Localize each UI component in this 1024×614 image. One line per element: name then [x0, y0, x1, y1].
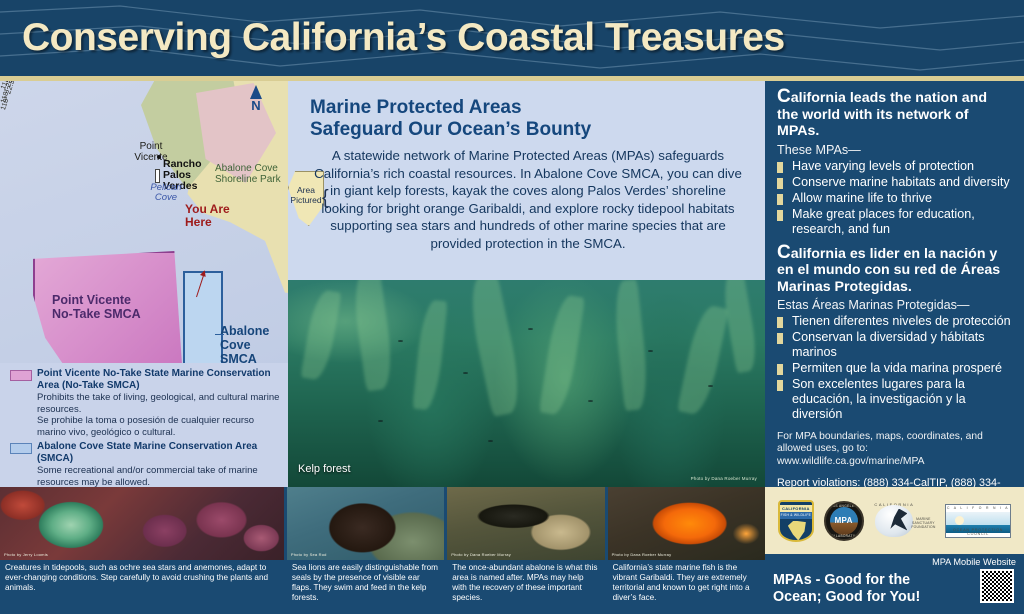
legend-title-no-take-smca: Point Vicente No-Take State Marine Conse… — [37, 368, 280, 391]
list-item: Have varying levels of protection — [777, 159, 1012, 174]
list-item: Son excelentes lugares para la educación… — [777, 377, 1012, 422]
kelp-forest-photo-credit: Photo by Dana Roeber Murray — [691, 476, 757, 481]
photo-credit: Photo by Dana Roeber Murray — [612, 552, 672, 557]
map-point-marker — [157, 155, 161, 159]
legend-swatch-magenta — [10, 370, 32, 381]
compass-rose-icon: N — [244, 85, 268, 113]
mpa-logo-top-text: LOS ANGELES — [826, 504, 862, 508]
photo-captions-bar: Creatures in tidepools, such as ochre se… — [0, 560, 765, 614]
center-content-panel: Marine Protected Areas Safeguard Our Oce… — [288, 81, 765, 487]
center-heading-line1: Marine Protected Areas — [310, 97, 591, 119]
map-label-pelican-cove: Pelican Cove — [147, 183, 185, 203]
tagline-text: MPAs - Good for the Ocean; Good for You! — [773, 572, 953, 606]
lighthouse-marker-icon — [155, 169, 160, 183]
qr-code-pattern — [982, 571, 1012, 601]
caption-sea-lion: Sea lions are easily distinguishable fro… — [287, 563, 444, 614]
opc-logo-top-text: C A L I F O R N I A — [946, 506, 1010, 510]
list-item: Tienen diferentes niveles de protección — [777, 314, 1012, 329]
caption-tidepool: Creatures in tidepools, such as ochre se… — [0, 563, 284, 614]
center-body-text: A statewide network of Marine Protected … — [308, 147, 748, 253]
opc-logo-bottom-text: OCEAN PROTECTION COUNCIL — [946, 528, 1010, 536]
center-text-area: Marine Protected Areas Safeguard Our Oce… — [288, 81, 765, 280]
tagline-bar: MPA Mobile Website MPAs - Good for the O… — [765, 554, 1024, 614]
legend-desc-no-take-smca-en: Prohibits the take of living, geological… — [10, 392, 280, 415]
dropcap-spanish: C — [777, 242, 791, 263]
legend-desc-abalone-cove-smca-en: Some recreational and/or commercial take… — [10, 465, 280, 488]
bullet-icon — [777, 333, 783, 344]
photo-strip: Photo by Jerry Loomis Photo by Sea Rod P… — [0, 487, 765, 560]
photo-sea-lion: Photo by Sea Rod — [287, 487, 444, 560]
bullet-text: Conserve marine habitats and diversity — [792, 175, 1010, 190]
bullet-text: Permiten que la vida marina prosperé — [792, 361, 1002, 376]
list-item: Conservan la diversidad y hábitats marin… — [777, 330, 1012, 360]
bullet-text: Tienen diferentes niveles de protección — [792, 314, 1011, 329]
ocean-protection-council-logo: C A L I F O R N I A OCEAN PROTECTION COU… — [945, 504, 1011, 538]
info-heading-spanish: California es lider en la nación y en el… — [777, 245, 1012, 296]
photo-garibaldi: Photo by Dana Roeber Murray — [608, 487, 765, 560]
bullet-icon — [777, 178, 783, 189]
qr-code[interactable] — [980, 569, 1014, 603]
compass-north-label: N — [244, 99, 268, 113]
list-item: Make great places for education, researc… — [777, 207, 1012, 237]
dropcap-english: C — [777, 86, 791, 107]
bottom-divider — [0, 609, 1024, 614]
bullet-icon — [777, 380, 783, 391]
map-label-you-are-here: You Are Here — [185, 203, 241, 229]
cdfw-logo-bottom-text: FISH & WILDLIFE — [780, 512, 812, 519]
photo-abalone: Photo by Dana Roeber Murray — [447, 487, 604, 560]
legend-title-abalone-cove-smca: Abalone Cove State Marine Conservation A… — [37, 441, 280, 464]
info-heading-english: California leads the nation and the worl… — [777, 89, 1012, 140]
info-bullet-list-english: Have varying levels of protection Conser… — [777, 159, 1012, 237]
bullet-icon — [777, 364, 783, 375]
info-subhead-english: These MPAs— — [777, 143, 1012, 158]
label-point-vicente-no-take-smca: Point Vicente No-Take SMCA — [52, 293, 182, 321]
map-label-abalone-cove-shoreline-park: Abalone Cove Shoreline Park — [215, 163, 288, 185]
legend-item-no-take-smca: Point Vicente No-Take State Marine Conse… — [10, 368, 280, 391]
cdfw-logo: CALIFORNIA FISH & WILDLIFE — [778, 500, 814, 542]
center-heading: Marine Protected Areas Safeguard Our Oce… — [310, 97, 591, 141]
map-legend: Point Vicente No-Take State Marine Conse… — [0, 363, 288, 487]
caption-garibaldi: California’s state marine fish is the vi… — [608, 563, 765, 614]
photo-tidepool-sea-stars-anemones: Photo by Jerry Loomis — [0, 487, 284, 560]
mpa-boundaries-info[interactable]: For MPA boundaries, maps, coordinates, a… — [777, 431, 1012, 468]
bullet-text: Have varying levels of protection — [792, 159, 974, 174]
sun-icon — [955, 516, 964, 525]
photo-credit: Photo by Sea Rod — [291, 552, 327, 557]
label-abalone-cove-smca: Abalone Cove SMCA — [220, 324, 288, 366]
kelp-forest-photo: Kelp forest Photo by Dana Roeber Murray — [288, 280, 765, 487]
photo-credit: Photo by Jerry Loomis — [4, 552, 48, 557]
mpa-logo-center-text: MPA — [830, 507, 858, 535]
photo-credit: Photo by Dana Roeber Murray — [451, 552, 511, 557]
info-panel: California leads the nation and the worl… — [765, 81, 1024, 487]
cdfw-logo-top-text: CALIFORNIA — [780, 505, 812, 512]
map-tick-mark — [215, 334, 224, 335]
bullet-text: Son excelentes lugares para la educación… — [792, 377, 1012, 422]
bullet-text: Make great places for education, researc… — [792, 207, 1012, 237]
california-marine-sanctuary-foundation-logo: CALIFORNIA MARINE SANCTUARY FOUNDATION — [873, 501, 935, 541]
bullet-text: Conservan la diversidad y hábitats marin… — [792, 330, 1012, 360]
legend-swatch-blue — [10, 443, 32, 454]
mpa-logo-bottom-text: COLLABORATIVE — [826, 534, 862, 538]
center-heading-line2: Safeguard Our Ocean’s Bounty — [310, 119, 591, 141]
poster-root: Conserving California’s Coastal Treasure… — [0, 0, 1024, 614]
partner-logos-strip: CALIFORNIA FISH & WILDLIFE LOS ANGELES M… — [765, 487, 1024, 554]
mpa-mobile-website-label: MPA Mobile Website — [932, 557, 1016, 567]
california-state-shape-icon — [788, 521, 806, 541]
bullet-icon — [777, 162, 783, 173]
bullet-icon — [777, 317, 783, 328]
bullet-icon — [777, 194, 783, 205]
info-subhead-spanish: Estas Áreas Marinas Protegidas— — [777, 298, 1012, 313]
kelp-forest-photo-label: Kelp forest — [298, 463, 351, 475]
caption-abalone: The once-abundant abalone is what this a… — [447, 563, 604, 614]
info-heading-spanish-text: alifornia es lider en la nación y en el … — [777, 246, 1000, 295]
info-bullet-list-spanish: Tienen diferentes niveles de protección … — [777, 314, 1012, 422]
bullet-icon — [777, 210, 783, 221]
la-mpa-collaborative-logo: LOS ANGELES MPA COLLABORATIVE — [824, 501, 864, 541]
info-heading-english-text: alifornia leads the nation and the world… — [777, 90, 987, 139]
list-item: Conserve marine habitats and diversity — [777, 175, 1012, 190]
msf-logo-side-text: MARINE SANCTUARY FOUNDATION — [911, 517, 935, 530]
header-banner: Conserving California’s Coastal Treasure… — [0, 0, 1024, 76]
list-item: Permiten que la vida marina prosperé — [777, 361, 1012, 376]
page-title: Conserving California’s Coastal Treasure… — [22, 16, 785, 60]
list-item: Allow marine life to thrive — [777, 191, 1012, 206]
legend-desc-no-take-smca-es: Se prohibe la toma o posesión de cualqui… — [10, 415, 280, 438]
legend-item-abalone-cove-smca: Abalone Cove State Marine Conservation A… — [10, 441, 280, 464]
bullet-text: Allow marine life to thrive — [792, 191, 932, 206]
